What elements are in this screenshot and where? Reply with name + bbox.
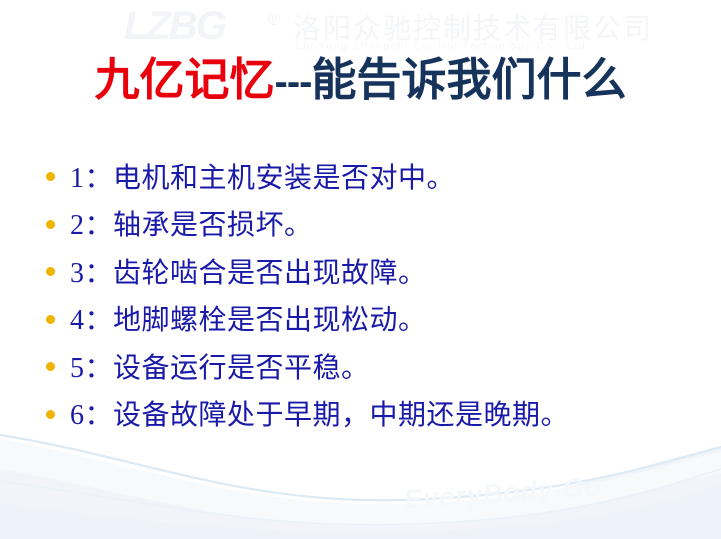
bullet-dot-icon xyxy=(46,267,55,276)
wave-line-soft xyxy=(0,469,721,525)
company-name-chinese: 洛阳众驰控制技术有限公司 xyxy=(293,7,653,47)
slide-canvas: LZBG ® 洛阳众驰控制技术有限公司 LuoYang Zhongchi Con… xyxy=(0,0,721,539)
bullet-dot-icon xyxy=(46,172,55,181)
company-name-english: LuoYang Zhongchi Control Technology Co.,… xyxy=(296,40,591,52)
bullet-dot-icon xyxy=(46,315,55,324)
wave-band-mid xyxy=(0,439,721,526)
list-item: 6：设备故障处于早期，中期还是晚期。 xyxy=(46,390,686,438)
title-rest: 能告诉我们什么 xyxy=(311,55,626,105)
title-separator: --- xyxy=(275,60,312,104)
bullet-dot-icon xyxy=(46,220,55,229)
registered-trademark-icon: ® xyxy=(268,10,281,30)
footer-watermark-text: EveryBody Go xyxy=(403,471,603,516)
title-highlight: 九亿记忆 xyxy=(95,55,275,105)
bullet-list: 1：电机和主机安装是否对中。 2：轴承是否损坏。 3：齿轮啮合是否出现故障。 4… xyxy=(46,152,686,437)
list-item: 5：设备运行是否平稳。 xyxy=(46,342,686,390)
bullet-dot-icon xyxy=(46,410,55,419)
company-logo-text: LZBG xyxy=(124,6,225,46)
wave-band-back xyxy=(0,447,721,539)
list-item-label: 5：设备运行是否平稳。 xyxy=(70,346,370,386)
bullet-dot-icon xyxy=(46,362,55,371)
list-item: 4：地脚螺栓是否出现松动。 xyxy=(46,295,686,343)
list-item-label: 1：电机和主机安装是否对中。 xyxy=(70,156,455,196)
list-item-label: 3：齿轮啮合是否出现故障。 xyxy=(70,251,427,291)
slide-title: 九亿记忆---能告诉我们什么 xyxy=(0,52,721,110)
list-item: 1：电机和主机安装是否对中。 xyxy=(46,152,686,200)
wave-line-accent xyxy=(0,435,721,500)
list-item-label: 4：地脚螺栓是否出现松动。 xyxy=(70,298,427,338)
list-item-label: 2：轴承是否损坏。 xyxy=(70,203,313,243)
footer-wave-decoration xyxy=(0,429,721,539)
list-item: 3：齿轮啮合是否出现故障。 xyxy=(46,247,686,295)
wave-band-front xyxy=(0,485,721,539)
list-item-label: 6：设备故障处于早期，中期还是晚期。 xyxy=(70,393,569,433)
list-item: 2：轴承是否损坏。 xyxy=(46,200,686,248)
